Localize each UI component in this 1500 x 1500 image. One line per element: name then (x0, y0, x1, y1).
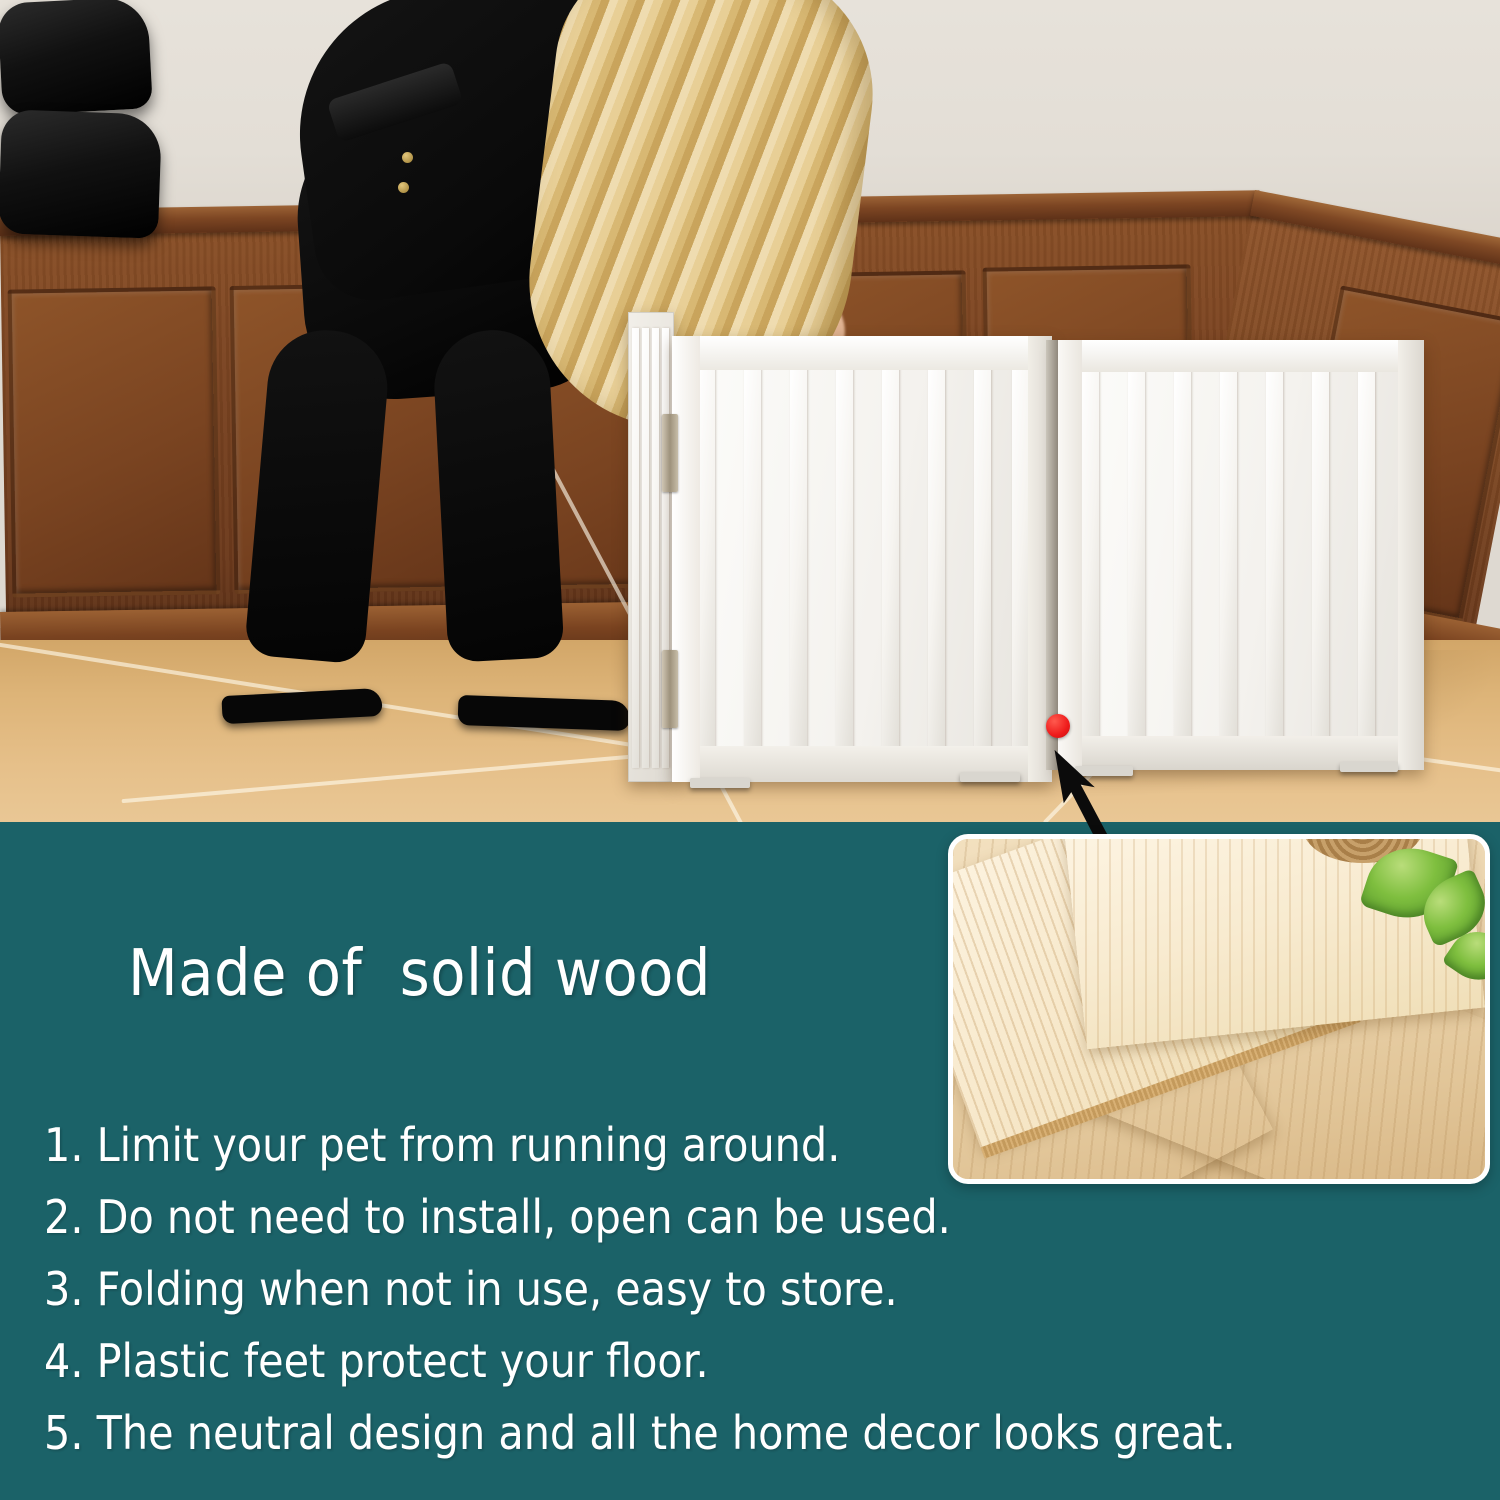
boot-right (0, 109, 162, 239)
person-leg-right (431, 327, 564, 663)
gate-slat (1266, 370, 1283, 738)
wainscot-raised-panel (8, 286, 221, 597)
gate-panel-front-right (1056, 340, 1424, 770)
gate-slat (1312, 370, 1329, 738)
gate-plastic-foot (690, 778, 750, 788)
gate-slat (882, 368, 899, 750)
gate-frame-top (1056, 340, 1424, 372)
gate-frame-right (1398, 340, 1424, 770)
gate-slat (698, 368, 715, 750)
gate-slat (1012, 368, 1029, 750)
gate-plastic-foot (1340, 762, 1398, 772)
gate-plastic-foot (960, 772, 1020, 782)
jeans-stud (398, 182, 409, 193)
gate-slat (1358, 370, 1375, 738)
gate-slat (974, 368, 991, 750)
gate-slat (652, 328, 659, 768)
gate-frame-left (1056, 340, 1082, 770)
jeans-stud (402, 152, 413, 163)
gate-frame-top (672, 336, 1052, 370)
list-item: 3. Folding when not in use, easy to stor… (44, 1266, 1374, 1312)
gate-slat (642, 328, 649, 768)
gate-panel-front-left (672, 336, 1052, 782)
gate-slat (632, 328, 639, 768)
inset-wood-photo (948, 834, 1490, 1184)
boot-left (0, 0, 153, 116)
gate-slat (1220, 370, 1237, 738)
gate-plastic-foot (1075, 766, 1133, 776)
gate-slat (744, 368, 761, 750)
gate-slat (836, 368, 853, 750)
gate-hinge-lower (662, 650, 678, 728)
page-title: Made of solid wood (128, 937, 711, 1011)
gate-slat (1128, 370, 1145, 738)
gate-fold-seam (1046, 340, 1058, 770)
gate-slat (790, 368, 807, 750)
lifestyle-photo (0, 0, 1500, 822)
gate-hinge-upper (662, 414, 678, 492)
red-dot-marker (1046, 714, 1070, 738)
product-infographic: Made of solid wood 1. Limit your pet fro… (0, 0, 1500, 1500)
boot-sole-right (458, 695, 631, 731)
gate-slat (928, 368, 945, 750)
list-item: 5. The neutral design and all the home d… (44, 1410, 1374, 1456)
gate-slat (1174, 370, 1191, 738)
list-item: 4. Plastic feet protect your floor. (44, 1338, 1374, 1384)
gate-slat (1082, 370, 1099, 738)
list-item: 2. Do not need to install, open can be u… (44, 1194, 1374, 1240)
